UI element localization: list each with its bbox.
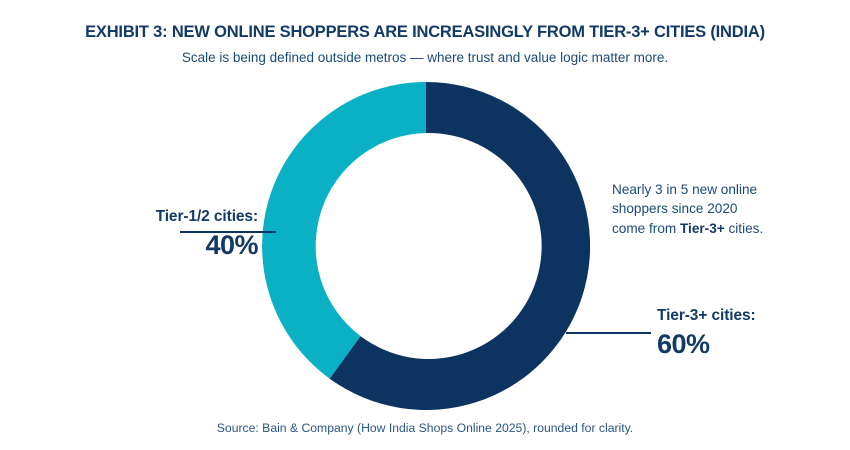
page-title: EXHIBIT 3: NEW ONLINE SHOPPERS ARE INCRE… — [0, 22, 850, 43]
annotation-line-1: Nearly 3 in 5 new online — [612, 182, 757, 197]
chart-subtitle: Scale is being defined outside metros — … — [0, 49, 850, 67]
chart-header: EXHIBIT 3: NEW ONLINE SHOPPERS ARE INCRE… — [0, 22, 850, 66]
donut-slice-tier12[interactable] — [262, 82, 426, 379]
exhibit-chart-root: EXHIBIT 3: NEW ONLINE SHOPPERS ARE INCRE… — [0, 0, 850, 450]
annotation-note: Nearly 3 in 5 new online shoppers since … — [612, 180, 827, 238]
callout-tier12-value: 40% — [156, 230, 258, 262]
callout-tier12: Tier-1/2 cities: 40% — [156, 208, 258, 261]
annotation-line-2: shoppers since 2020 — [612, 201, 737, 216]
annotation-line-3-suffix: cities. — [725, 221, 764, 236]
callout-tier12-label: Tier-1/2 cities: — [156, 208, 258, 227]
leader-line-tier3plus — [566, 332, 651, 334]
annotation-line-3-prefix: come from — [612, 221, 680, 236]
callout-tier3plus: Tier-3+ cities: 60% — [657, 307, 756, 360]
annotation-line-3-emphasis: Tier-3+ — [680, 221, 725, 236]
donut-chart — [262, 82, 590, 410]
callout-tier3plus-label: Tier-3+ cities: — [657, 307, 756, 326]
donut-svg — [262, 82, 590, 410]
callout-tier3plus-value: 60% — [657, 329, 756, 361]
source-note: Source: Bain & Company (How India Shops … — [0, 421, 850, 435]
